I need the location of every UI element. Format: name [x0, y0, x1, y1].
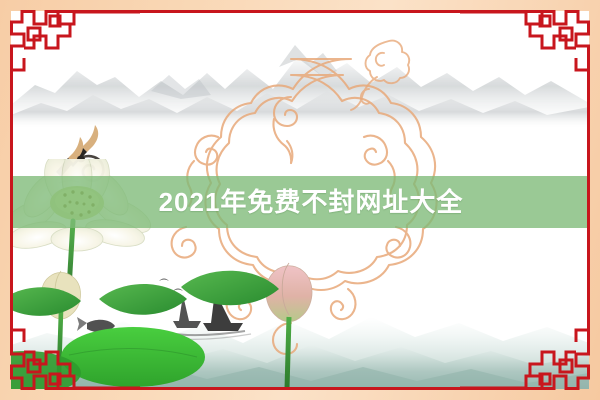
- banner-card: 2021年免费不封网址大全: [11, 11, 589, 389]
- lotus-leaf: [11, 271, 279, 389]
- banner-canvas: 2021年免费不封网址大全: [0, 0, 600, 400]
- page-title: 2021年免费不封网址大全: [159, 189, 464, 215]
- title-band: 2021年免费不封网址大全: [11, 176, 589, 228]
- ink-wash-mountains-top: [11, 19, 589, 129]
- floating-cloud: [341, 33, 421, 123]
- lotus-bud-pink: [266, 263, 312, 389]
